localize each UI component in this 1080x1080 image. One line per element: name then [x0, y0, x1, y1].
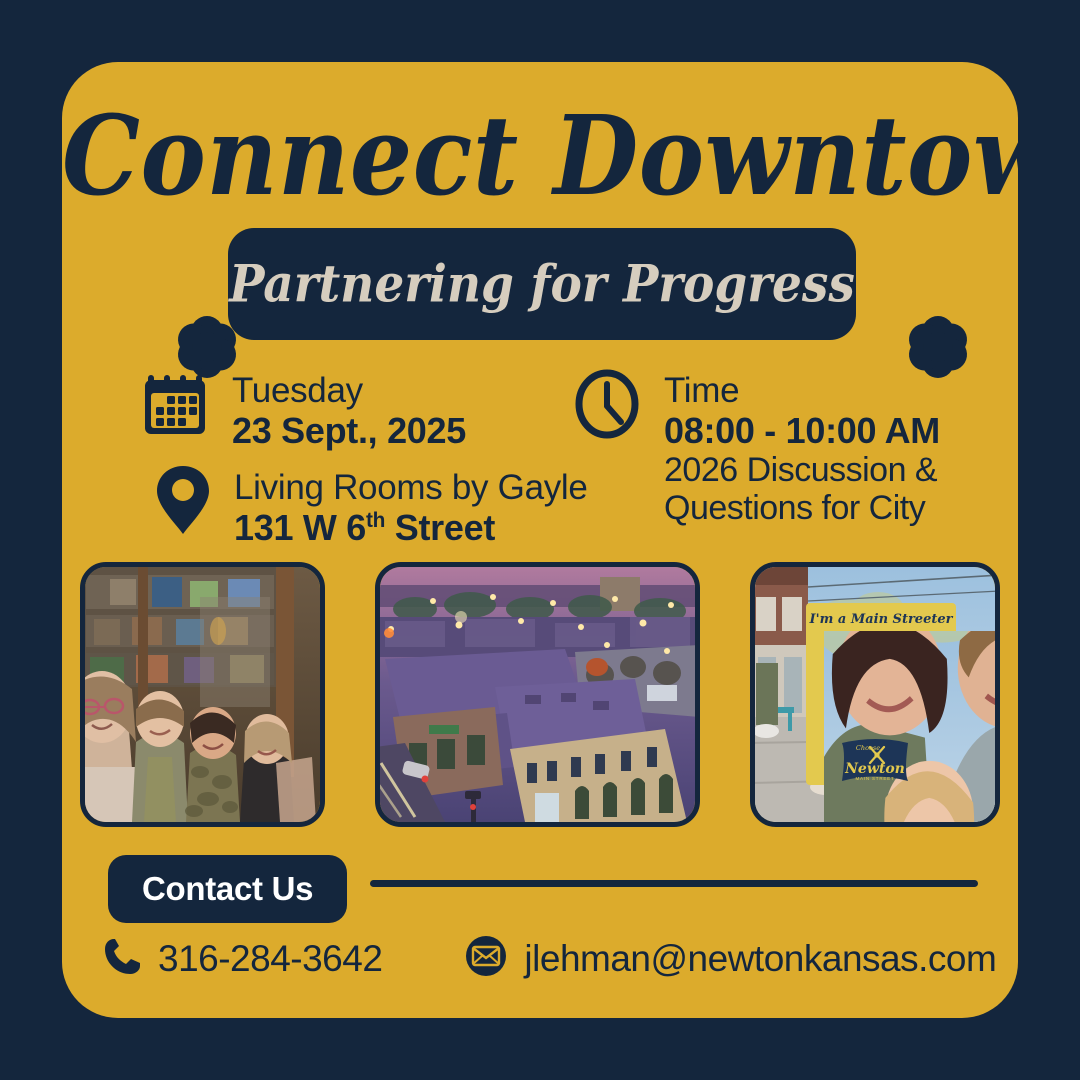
photo-shop-group [80, 562, 325, 827]
map-pin-icon [152, 462, 214, 543]
logo-choose-text: Choose [856, 744, 880, 752]
time-value: 08:00 - 10:00 AM [664, 410, 940, 451]
time-label: Time [664, 371, 940, 410]
subtitle-text: Partnering for Progress [229, 254, 855, 315]
email-address: jlehman@newtonkansas.com [524, 938, 996, 980]
date-label: Tuesday [232, 371, 466, 410]
calendar-icon [142, 367, 214, 444]
contact-us-badge: Contact Us [108, 855, 347, 923]
photo-strip: I'm a Main Streeter Choose Newton MAIN S… [80, 562, 1000, 827]
contact-email[interactable]: jlehman@newtonkansas.com [464, 934, 996, 983]
contact-details: 316-284-3642 jlehman@newtonkansas.com [102, 934, 996, 983]
clock-icon [570, 367, 644, 446]
frame-caption-text: I'm a Main Streeter [809, 612, 954, 627]
contact-us-label: Contact Us [142, 870, 313, 908]
time-note-line-2: Questions for City [664, 489, 940, 527]
detail-row-time: Time 08:00 - 10:00 AM 2026 Discussion & … [570, 367, 940, 527]
date-value: 23 Sept., 2025 [232, 410, 466, 451]
location-address-ordinal: th [366, 509, 385, 532]
poster-card: Connect Downtown Partnering for Progress [62, 62, 1018, 1018]
time-note-line-1: 2026 Discussion & [664, 451, 940, 489]
location-address-suffix: Street [385, 507, 495, 548]
envelope-icon [464, 934, 508, 983]
location-label: Living Rooms by Gayle [234, 468, 588, 507]
location-address: 131 W 6th Street [234, 507, 588, 548]
contact-phone[interactable]: 316-284-3642 [102, 935, 382, 982]
logo-mainstreet-text: MAIN STREET [855, 776, 894, 781]
photo-downtown-aerial [375, 562, 700, 827]
location-address-prefix: 131 W 6 [234, 507, 366, 548]
photo-main-streeter-family: I'm a Main Streeter Choose Newton MAIN S… [750, 562, 1000, 827]
phone-number: 316-284-3642 [158, 938, 382, 980]
detail-row-date: Tuesday 23 Sept., 2025 [142, 367, 466, 451]
subtitle-banner: Partnering for Progress [228, 228, 856, 340]
contact-divider [370, 880, 978, 887]
phone-icon [102, 935, 144, 982]
logo-newton-text: Newton [844, 761, 905, 777]
page-title: Connect Downtown [62, 92, 1018, 222]
detail-row-location: Living Rooms by Gayle 131 W 6th Street [152, 462, 588, 548]
